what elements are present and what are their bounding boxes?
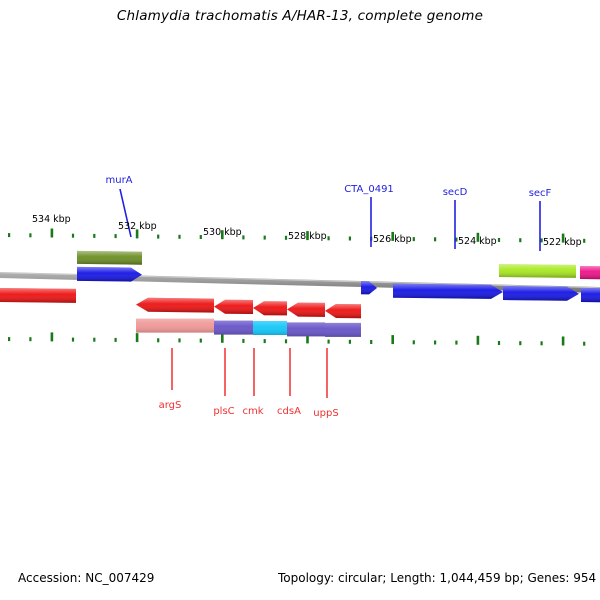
ruler-tick-label: 532 kbp: [118, 221, 157, 232]
minor-tick: [264, 236, 266, 240]
minor-tick: [328, 236, 330, 240]
bottom-label-leaders: [172, 348, 327, 398]
minor-tick: [115, 234, 117, 238]
feature-bevel: [503, 286, 579, 301]
minor-tick: [519, 341, 521, 345]
feature-bevel: [253, 301, 287, 315]
feature-label-mura[interactable]: murA: [79, 175, 159, 186]
domain-bevel: [287, 322, 325, 336]
feature-bevel: [77, 267, 142, 282]
minor-tick: [157, 235, 159, 239]
minor-tick: [583, 239, 585, 243]
feature-bevel: [499, 264, 576, 278]
major-tick: [136, 333, 139, 342]
minor-tick: [200, 235, 202, 239]
major-tick: [391, 335, 394, 344]
minor-tick: [115, 338, 117, 342]
domain-track[interactable]: [136, 319, 361, 337]
major-tick: [221, 334, 224, 343]
minor-tick: [8, 337, 10, 341]
feature-bevel: [136, 298, 214, 313]
minor-tick: [242, 235, 244, 239]
minor-tick: [72, 338, 74, 342]
minor-tick: [29, 337, 31, 341]
minor-tick: [498, 238, 500, 242]
minor-tick: [242, 339, 244, 343]
feature-bevel: [0, 288, 76, 303]
minor-tick: [285, 339, 287, 343]
minor-tick: [349, 340, 351, 344]
major-tick: [51, 332, 54, 341]
ruler-tick-label: 522 kbp: [543, 237, 582, 248]
feature-label-secf[interactable]: secF: [500, 188, 580, 199]
reverse-strand-features[interactable]: [0, 288, 361, 318]
domain-bevel: [136, 319, 214, 333]
feature-label-cta_0491[interactable]: CTA_0491: [329, 184, 409, 195]
feature-bevel: [581, 288, 600, 302]
feature-bevel: [77, 251, 142, 265]
minor-tick: [413, 237, 415, 241]
minor-tick: [157, 338, 159, 342]
major-tick: [477, 336, 480, 345]
major-tick: [51, 229, 54, 238]
feature-bevel: [580, 266, 600, 279]
minor-tick: [413, 340, 415, 344]
minor-tick: [93, 338, 95, 342]
feature-bevel: [325, 304, 361, 318]
minor-tick: [178, 338, 180, 342]
genome-diagram: [0, 0, 600, 600]
minor-tick: [72, 234, 74, 238]
minor-tick: [498, 341, 500, 345]
domain-bevel: [253, 321, 287, 335]
minor-tick: [434, 237, 436, 241]
minor-tick: [583, 342, 585, 346]
minor-tick: [349, 237, 351, 241]
minor-tick: [264, 339, 266, 343]
minor-tick: [93, 234, 95, 238]
genome-viewer: Chlamydia trachomatis A/HAR-13, complete…: [0, 0, 600, 600]
minor-tick: [178, 235, 180, 239]
minor-tick: [434, 341, 436, 345]
ruler-tick-label: 524 kbp: [458, 236, 497, 247]
domain-bevel: [325, 323, 361, 337]
feature-bevel: [214, 300, 253, 314]
major-tick: [562, 337, 565, 346]
minor-tick: [200, 339, 202, 343]
accession-text: Accession: NC_007429: [18, 571, 154, 585]
gene-label-upps[interactable]: uppS: [286, 408, 366, 419]
feature-label-secd[interactable]: secD: [415, 187, 495, 198]
ruler-tick-label: 528 kbp: [288, 231, 327, 242]
minor-tick: [519, 238, 521, 242]
feature-bevel: [287, 303, 325, 317]
minor-tick: [370, 340, 372, 344]
minor-tick: [455, 341, 457, 345]
minor-tick: [541, 341, 543, 345]
minor-tick: [285, 236, 287, 240]
minor-tick: [328, 340, 330, 344]
genome-summary-text: Topology: circular; Length: 1,044,459 bp…: [278, 571, 596, 585]
ruler-tick-label: 534 kbp: [32, 214, 71, 225]
minor-tick: [29, 233, 31, 237]
ruler-tick-label: 526 kbp: [373, 234, 412, 245]
feature-bevel: [393, 284, 503, 299]
minor-tick: [8, 233, 10, 237]
ruler-tick-label: 530 kbp: [203, 227, 242, 238]
domain-bevel: [214, 321, 253, 335]
